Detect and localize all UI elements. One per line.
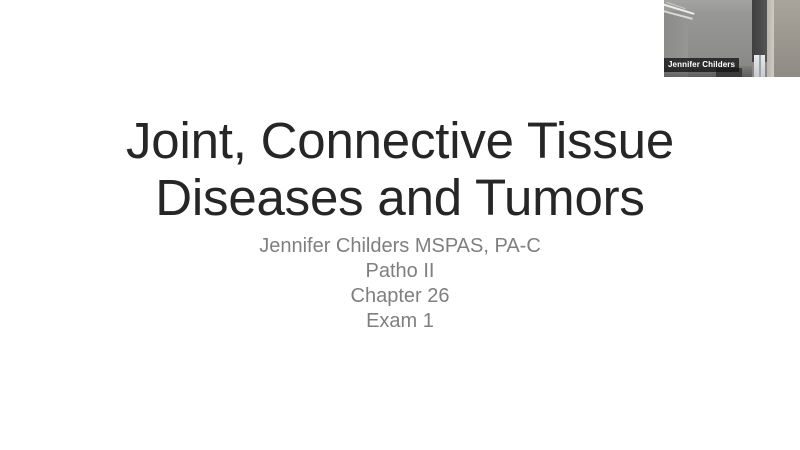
webcam-dark-column (752, 0, 767, 62)
webcam-right-wall (774, 0, 800, 77)
slide-subtitle: Jennifer Childers MSPAS, PA-C Patho II C… (100, 234, 700, 334)
webcam-column-edge (767, 0, 774, 77)
subtitle-line-exam: Exam 1 (100, 309, 700, 334)
webcam-video-thumbnail[interactable]: Jennifer Childers (664, 0, 800, 77)
subtitle-line-presenter: Jennifer Childers MSPAS, PA-C (100, 234, 700, 259)
subtitle-line-chapter: Chapter 26 (100, 284, 700, 309)
webcam-doorway-mullion (759, 55, 761, 77)
subtitle-line-course: Patho II (100, 259, 700, 284)
slide-title: Joint, Connective Tissue Diseases and Tu… (100, 112, 700, 226)
presentation-slide: Joint, Connective Tissue Diseases and Tu… (0, 0, 800, 450)
participant-name-badge: Jennifer Childers (664, 58, 739, 72)
